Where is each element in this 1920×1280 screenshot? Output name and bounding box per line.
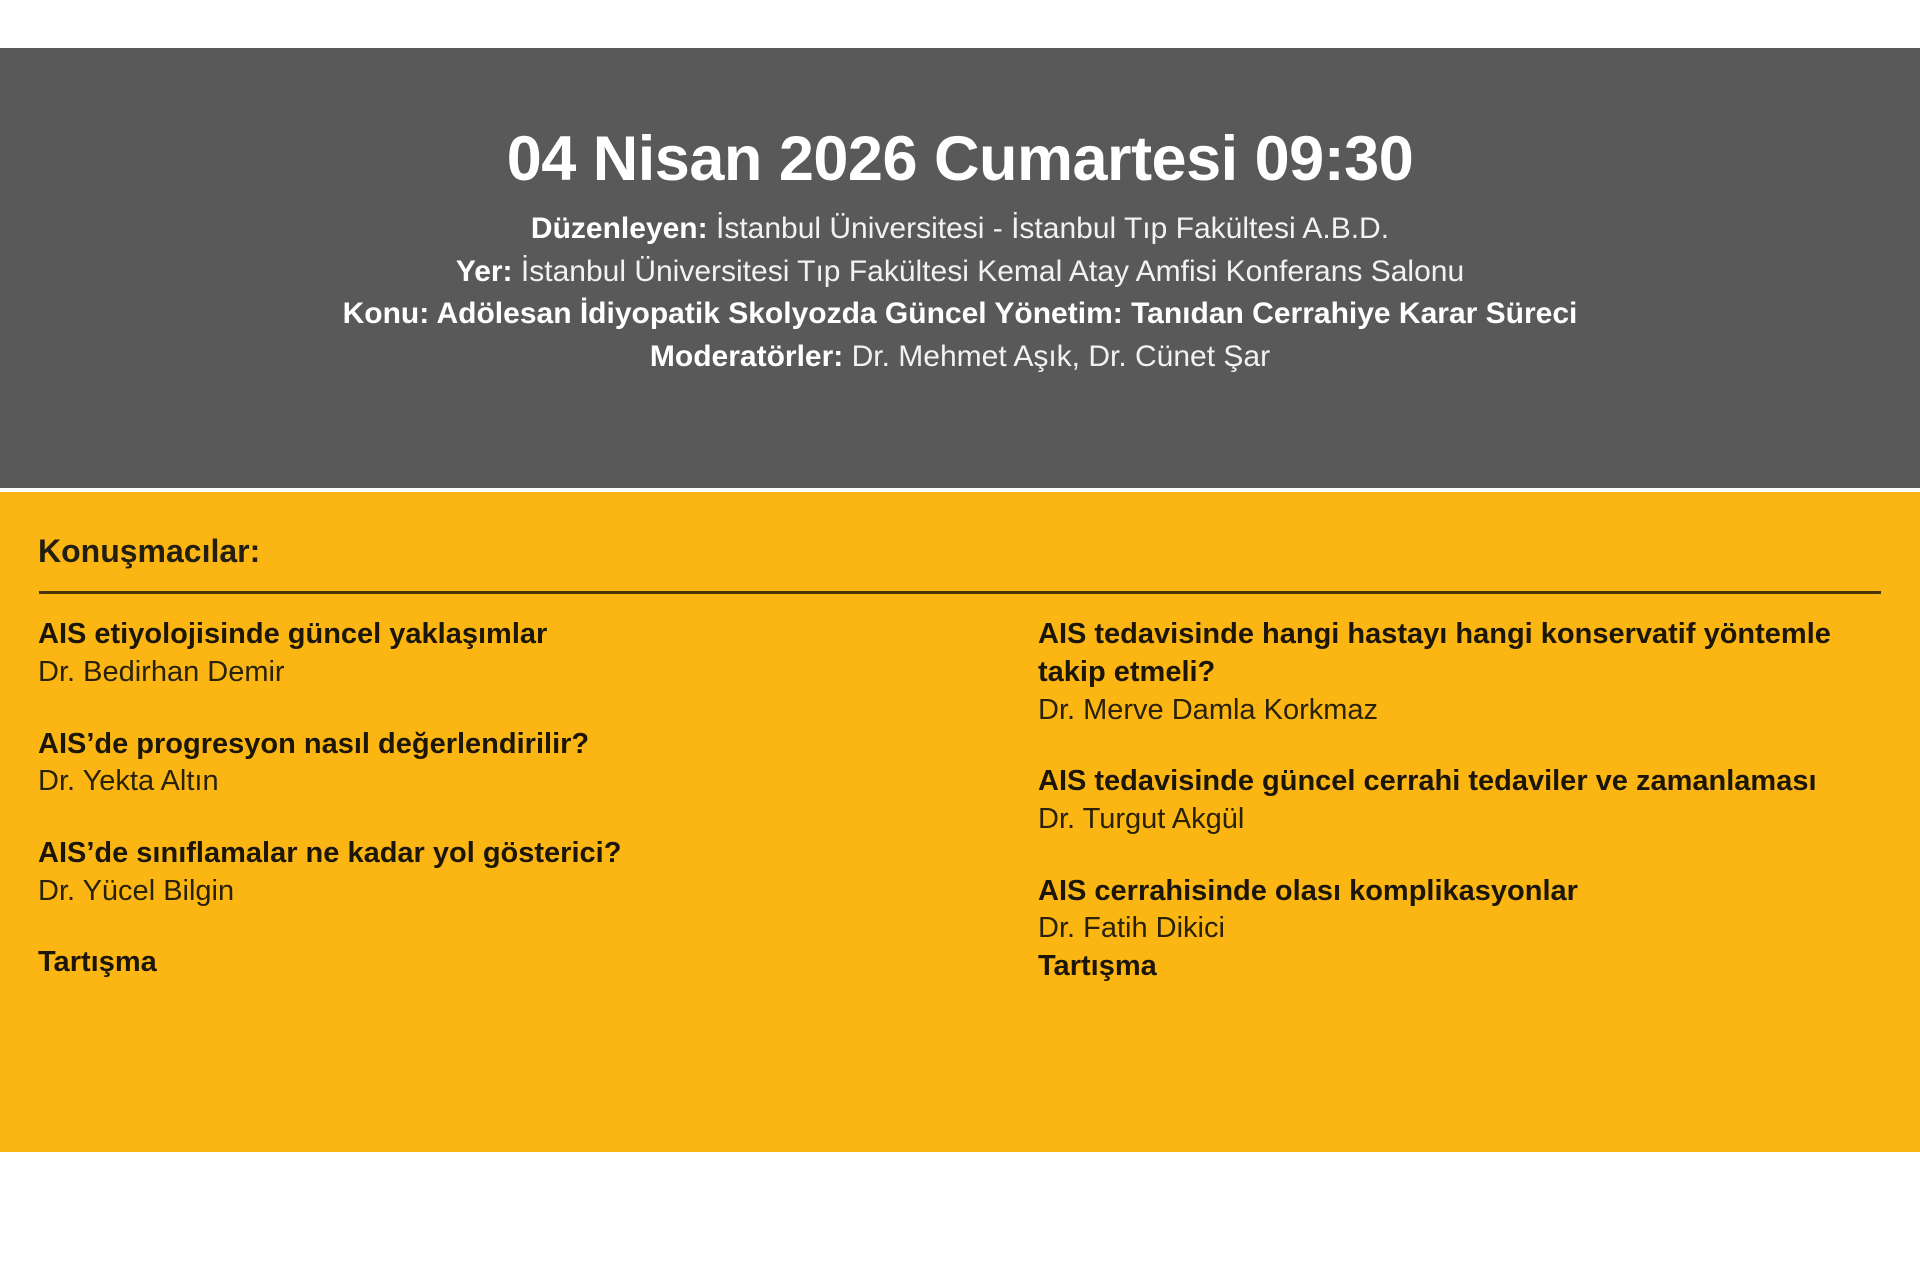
section-divider: [39, 591, 1881, 594]
talk-item: AIS cerrahisinde olası komplikasyonlar D…: [1038, 873, 1880, 986]
talk-title: AIS’de sınıflamalar ne kadar yol gösteri…: [38, 835, 998, 873]
talk-item: AIS tedavisinde güncel cerrahi tedaviler…: [1038, 763, 1880, 838]
talk-title: AIS cerrahisinde olası komplikasyonlar: [1038, 873, 1880, 911]
talk-title: AIS etiyolojisinde güncel yaklaşımlar: [38, 616, 998, 654]
talk-speaker: Dr. Yekta Altın: [38, 763, 998, 801]
talk-title: AIS tedavisinde hangi hastayı hangi kons…: [1038, 616, 1880, 691]
talk-speaker: Dr. Yücel Bilgin: [38, 873, 998, 911]
talk-item: AIS’de progresyon nasıl değerlendirilir?…: [38, 726, 998, 801]
talk-item: AIS’de sınıflamalar ne kadar yol gösteri…: [38, 835, 998, 910]
venue-value: İstanbul Üniversitesi Tıp Fakültesi Kema…: [521, 255, 1464, 288]
moderators-value: Dr. Mehmet Aşık, Dr. Cünet Şar: [852, 340, 1270, 373]
moderators-line: Moderatörler: Dr. Mehmet Aşık, Dr. Cünet…: [40, 336, 1880, 379]
speakers-columns: AIS etiyolojisinde güncel yaklaşımlar Dr…: [38, 616, 1882, 986]
talk-title: AIS’de progresyon nasıl değerlendirilir?: [38, 726, 998, 764]
speakers-right-column: AIS tedavisinde hangi hastayı hangi kons…: [1038, 616, 1880, 986]
venue-line: Yer: İstanbul Üniversitesi Tıp Fakültesi…: [40, 251, 1880, 294]
talk-item: AIS etiyolojisinde güncel yaklaşımlar Dr…: [38, 616, 998, 691]
topic-label: Konu:: [343, 297, 430, 330]
organizer-line: Düzenleyen: İstanbul Üniversitesi - İsta…: [40, 208, 1880, 251]
speakers-panel: Konuşmacılar: AIS etiyolojisinde güncel …: [0, 492, 1920, 1152]
talk-speaker: Dr. Bedirhan Demir: [38, 654, 998, 692]
venue-label: Yer:: [456, 255, 513, 288]
talk-title: AIS tedavisinde güncel cerrahi tedaviler…: [1038, 763, 1880, 801]
event-header-band: 04 Nisan 2026 Cumartesi 09:30 Düzenleyen…: [0, 48, 1920, 488]
topic-value: Adölesan İdiyopatik Skolyozda Güncel Yön…: [436, 297, 1577, 330]
talk-item: AIS tedavisinde hangi hastayı hangi kons…: [1038, 616, 1880, 729]
speakers-heading: Konuşmacılar:: [38, 492, 1882, 569]
speakers-left-column: AIS etiyolojisinde güncel yaklaşımlar Dr…: [38, 616, 1038, 986]
topic-line: Konu: Adölesan İdiyopatik Skolyozda Günc…: [40, 293, 1880, 336]
talk-speaker: Dr. Merve Damla Korkmaz: [1038, 692, 1880, 730]
organizer-value: İstanbul Üniversitesi - İstanbul Tıp Fak…: [716, 212, 1389, 245]
talk-speaker: Dr. Fatih Dikici: [1038, 910, 1880, 948]
organizer-label: Düzenleyen:: [531, 212, 708, 245]
event-date-title: 04 Nisan 2026 Cumartesi 09:30: [40, 48, 1880, 192]
talk-item: Tartışma: [38, 944, 998, 982]
discussion-label: Tartışma: [38, 944, 998, 982]
event-poster: 04 Nisan 2026 Cumartesi 09:30 Düzenleyen…: [0, 0, 1920, 1280]
moderators-label: Moderatörler:: [650, 340, 843, 373]
discussion-label: Tartışma: [1038, 948, 1880, 986]
talk-speaker: Dr. Turgut Akgül: [1038, 801, 1880, 839]
